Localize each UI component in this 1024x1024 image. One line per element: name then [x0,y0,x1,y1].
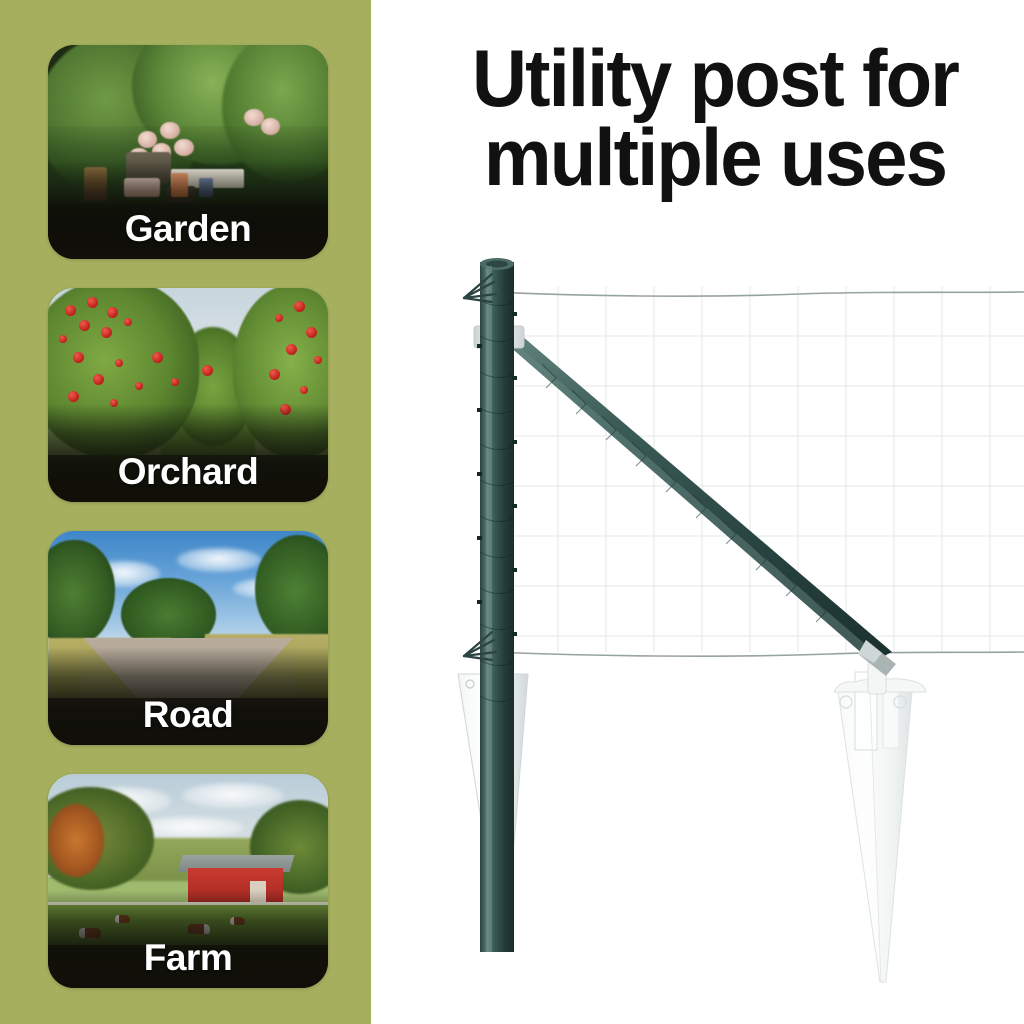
use-case-sidebar: Garden [0,0,371,1024]
vertical-post [477,258,517,952]
tension-wire-top [492,292,1024,296]
use-case-card-orchard[interactable]: Orchard [48,288,328,502]
infographic-canvas: Garden [0,0,1024,1024]
tension-wire-bottom [492,652,1024,656]
page-title: Utility post for multiple uses [438,40,993,199]
use-case-card-garden[interactable]: Garden [48,45,328,259]
wire-mesh-fence [492,286,1024,652]
card-label: Road [48,696,328,739]
product-illustration [400,240,1024,1000]
card-label: Farm [48,939,328,982]
use-case-card-farm[interactable]: Farm [48,774,328,988]
title-line-1: Utility post for [438,40,993,119]
use-case-card-road[interactable]: Road [48,531,328,745]
card-label: Orchard [48,453,328,496]
title-line-2: multiple uses [438,119,993,198]
card-label: Garden [48,210,328,253]
diagonal-brace [500,336,896,676]
ground-spike-right [834,650,926,982]
